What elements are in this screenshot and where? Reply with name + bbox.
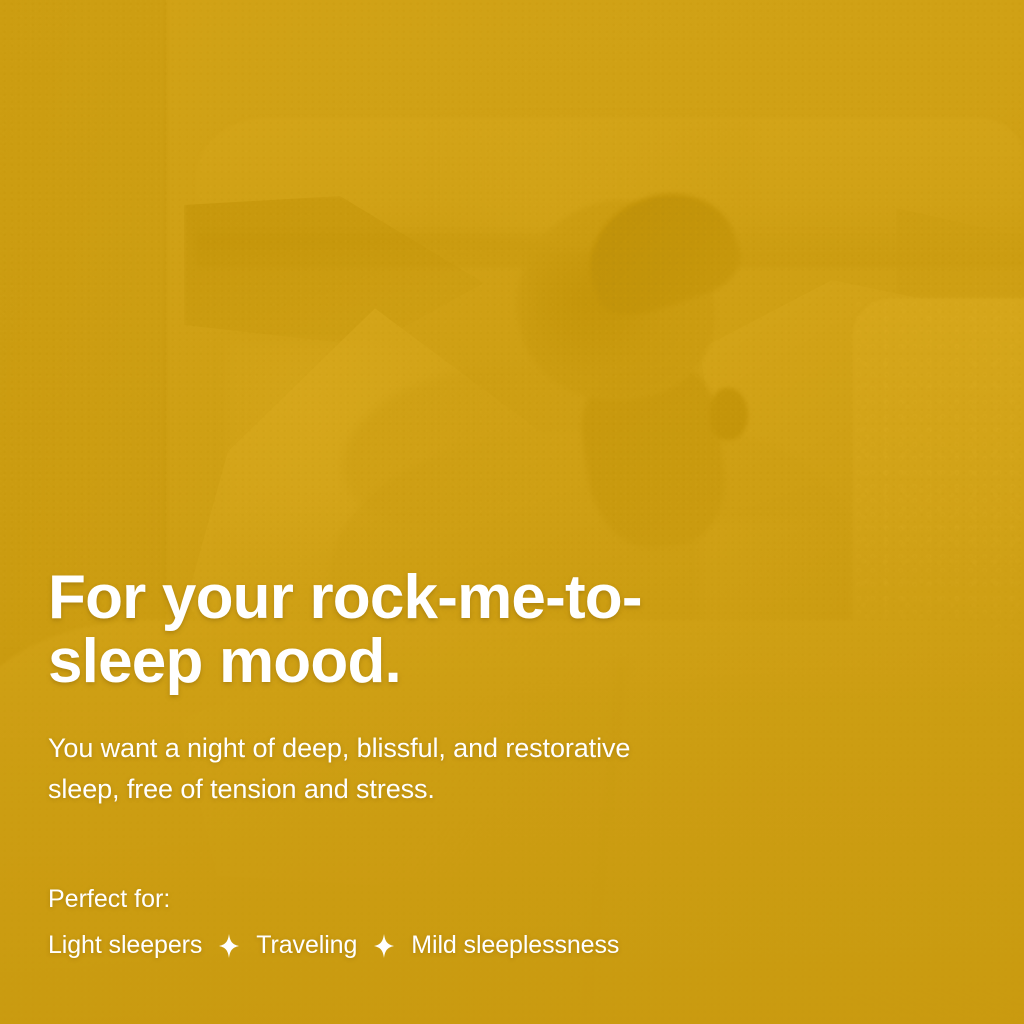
four-pointed-star-icon [373, 933, 395, 959]
sleep-mood-card: For your rock-me-to-sleep mood. You want… [0, 0, 1024, 1024]
four-pointed-star-icon [218, 933, 240, 959]
tag-traveling: Traveling [256, 931, 357, 960]
perfect-for-label: Perfect for: [48, 883, 1024, 916]
sleeper-ear [710, 388, 748, 440]
body-description: You want a night of deep, blissful, and … [48, 728, 708, 810]
page-title: For your rock-me-to-sleep mood. [48, 566, 728, 695]
tag-mild-sleeplessness: Mild sleeplessness [411, 931, 619, 960]
card-content: For your rock-me-to-sleep mood. You want… [0, 566, 1024, 1024]
perfect-for-tag-list: Light sleepers Traveling Mild sleeplessn… [48, 931, 1024, 960]
tag-light-sleepers: Light sleepers [48, 931, 202, 960]
